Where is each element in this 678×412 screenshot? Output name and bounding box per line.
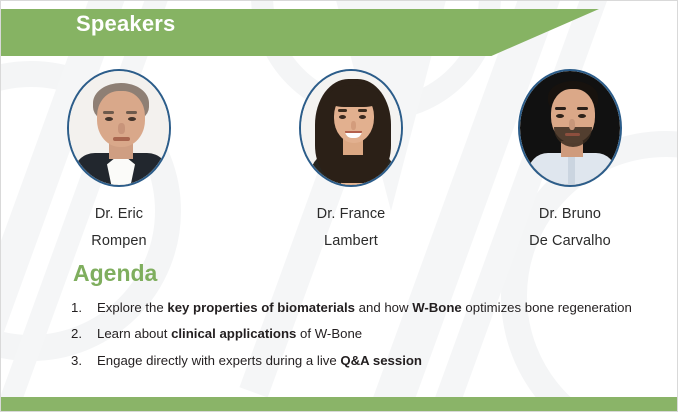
agenda-item-text: Learn about clinical applications of W-B… <box>97 325 649 342</box>
agenda-text-segment: Engage directly with experts during a li… <box>97 353 340 368</box>
speaker-name-line1: Dr. Eric <box>91 201 146 228</box>
agenda-item-text: Engage directly with experts during a li… <box>97 352 649 369</box>
agenda-text-segment: of W-Bone <box>296 326 362 341</box>
speaker-name-line2: Rompen <box>91 228 146 255</box>
avatar-eric-rompen <box>67 69 171 187</box>
agenda-item: 1.Explore the key properties of biomater… <box>67 299 649 316</box>
speaker-name-line1: Dr. France <box>317 201 386 228</box>
page-title: Speakers <box>76 13 175 35</box>
footer-bar <box>1 397 678 411</box>
agenda-list: 1.Explore the key properties of biomater… <box>67 299 649 378</box>
agenda-text-emphasis: W-Bone <box>412 300 462 315</box>
agenda-item-number: 2. <box>67 325 97 342</box>
agenda-item-text: Explore the key properties of biomateria… <box>97 299 649 316</box>
agenda-text-emphasis: key properties of biomaterials <box>167 300 355 315</box>
presentation-slide: Speakers Dr. Eric Rompen <box>0 0 678 412</box>
agenda-item: 3.Engage directly with experts during a … <box>67 352 649 369</box>
agenda-item: 2.Learn about clinical applications of W… <box>67 325 649 342</box>
agenda-item-number: 1. <box>67 299 97 316</box>
speaker-card: Dr. Bruno De Carvalho <box>453 69 678 255</box>
speaker-card: Dr. Eric Rompen <box>1 69 227 255</box>
speaker-name: Dr. France Lambert <box>317 201 386 255</box>
speaker-name-line2: De Carvalho <box>529 228 611 255</box>
avatar-bruno-de-carvalho <box>518 69 622 187</box>
speaker-name-line2: Lambert <box>317 228 386 255</box>
agenda-item-number: 3. <box>67 352 97 369</box>
speaker-name: Dr. Bruno De Carvalho <box>529 201 611 255</box>
agenda-text-emphasis: clinical applications <box>171 326 296 341</box>
portrait-image <box>520 71 620 185</box>
speakers-row: Dr. Eric Rompen Dr. France Lambert <box>1 69 678 255</box>
agenda-text-emphasis: Q&A session <box>340 353 422 368</box>
agenda-text-segment: Learn about <box>97 326 171 341</box>
speaker-name: Dr. Eric Rompen <box>91 201 146 255</box>
portrait-image <box>69 71 169 185</box>
agenda-text-segment: optimizes bone regeneration <box>462 300 632 315</box>
agenda-heading: Agenda <box>73 262 157 285</box>
speaker-card: Dr. France Lambert <box>227 69 453 255</box>
portrait-image <box>301 71 401 185</box>
agenda-text-segment: and how <box>355 300 412 315</box>
speaker-name-line1: Dr. Bruno <box>529 201 611 228</box>
avatar-france-lambert <box>299 69 403 187</box>
agenda-text-segment: Explore the <box>97 300 167 315</box>
